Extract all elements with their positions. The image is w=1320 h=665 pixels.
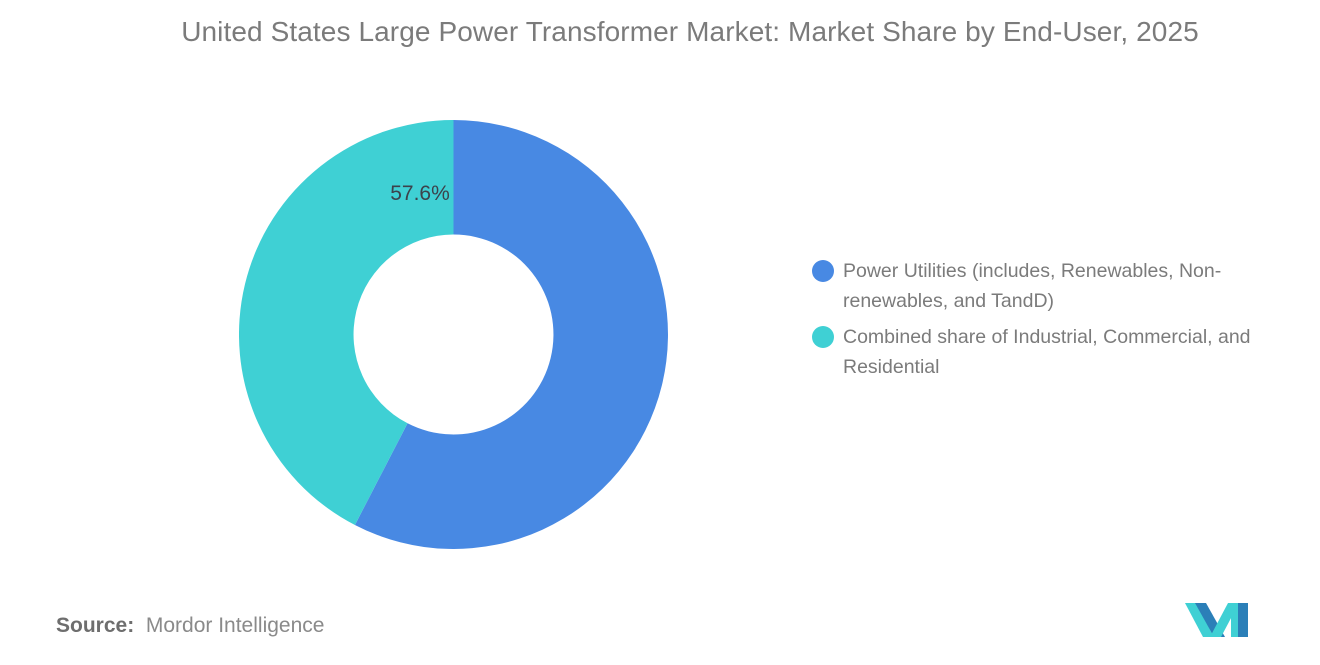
source-label: Source:	[56, 614, 134, 637]
legend-item-label: Combined share of Industrial, Commercial…	[843, 322, 1295, 382]
legend-item-industrial-commercial-residential[interactable]: Combined share of Industrial, Commercial…	[812, 322, 1312, 382]
chart-legend: Power Utilities (includes, Renewables, N…	[812, 256, 1312, 388]
source-value: Mordor Intelligence	[146, 614, 325, 637]
legend-swatch-teal-circle-icon	[812, 326, 834, 348]
donut-chart-svg	[239, 120, 668, 549]
mordor-intelligence-logo-icon	[1185, 601, 1251, 639]
source-attribution: Source: Mordor Intelligence	[56, 611, 324, 641]
legend-item-power-utilities[interactable]: Power Utilities (includes, Renewables, N…	[812, 256, 1312, 316]
donut-chart	[239, 120, 668, 549]
legend-swatch-blue-circle-icon	[812, 260, 834, 282]
logo-svg	[1185, 601, 1251, 639]
page-title: United States Large Power Transformer Ma…	[160, 12, 1220, 51]
legend-item-label: Power Utilities (includes, Renewables, N…	[843, 256, 1295, 316]
